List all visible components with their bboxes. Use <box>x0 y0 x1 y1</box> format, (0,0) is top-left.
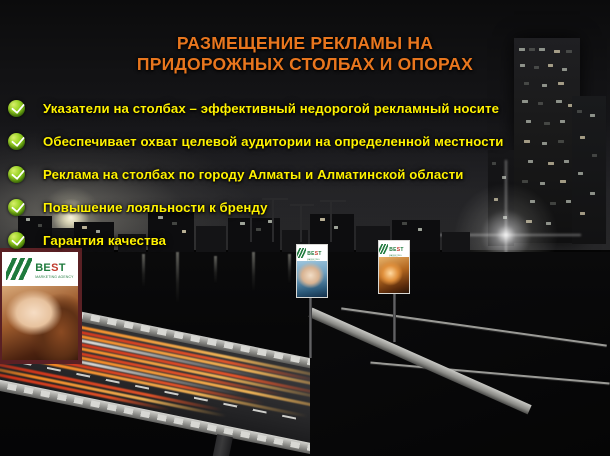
billboard-photo-woman <box>2 286 78 360</box>
billboard-left-large[interactable]: BEST MARKETING AGENCY <box>2 252 78 360</box>
green-check-icon <box>8 232 25 249</box>
billboard-photo-blue <box>297 261 327 297</box>
lower-roadway <box>310 300 610 456</box>
green-check-icon <box>8 100 25 117</box>
list-item: Реклама на столбах по городу Алматы и Ал… <box>8 158 610 191</box>
list-item: Обеспечивает охват целевой аудитории на … <box>8 125 610 158</box>
guard-rail <box>370 362 609 385</box>
road-curb <box>308 308 531 415</box>
page-title: РАЗМЕЩЕНИЕ РЕКЛАМЫ НА ПРИДОРОЖНЫХ СТОЛБА… <box>0 33 610 75</box>
list-item-label: Указатели на столбах – эффективный недор… <box>43 101 499 117</box>
list-item-label: Повышение лояльности к бренду <box>43 200 268 216</box>
billboard-photo-warm <box>379 257 409 293</box>
list-item-label: Гарантия качества <box>43 233 166 249</box>
green-check-icon <box>8 166 25 183</box>
green-check-icon <box>8 199 25 216</box>
title-line-1: РАЗМЕЩЕНИЕ РЕКЛАМЫ НА <box>177 33 433 53</box>
logo-wordmark: BEST <box>35 262 66 274</box>
presentation-slide: BEST MARKETING AGENCY BEST MARKETING AGE… <box>0 0 610 456</box>
list-item: Указатели на столбах – эффективный недор… <box>8 92 610 125</box>
logo-mark-icon <box>6 258 32 279</box>
bullet-list: Указатели на столбах – эффективный недор… <box>8 92 610 257</box>
title-line-2: ПРИДОРОЖНЫХ СТОЛБАХ И ОПОРАХ <box>0 54 610 75</box>
list-item-label: Реклама на столбах по городу Алматы и Ал… <box>43 167 463 183</box>
billboard-logo: BEST MARKETING AGENCY <box>2 252 78 286</box>
bridge-pier <box>202 434 232 456</box>
list-item-label: Обеспечивает охват целевой аудитории на … <box>43 134 504 150</box>
list-item: Повышение лояльности к бренду <box>8 191 610 224</box>
list-item: Гарантия качества <box>8 224 610 257</box>
logo-tagline: MARKETING AGENCY <box>35 276 73 279</box>
green-check-icon <box>8 133 25 150</box>
